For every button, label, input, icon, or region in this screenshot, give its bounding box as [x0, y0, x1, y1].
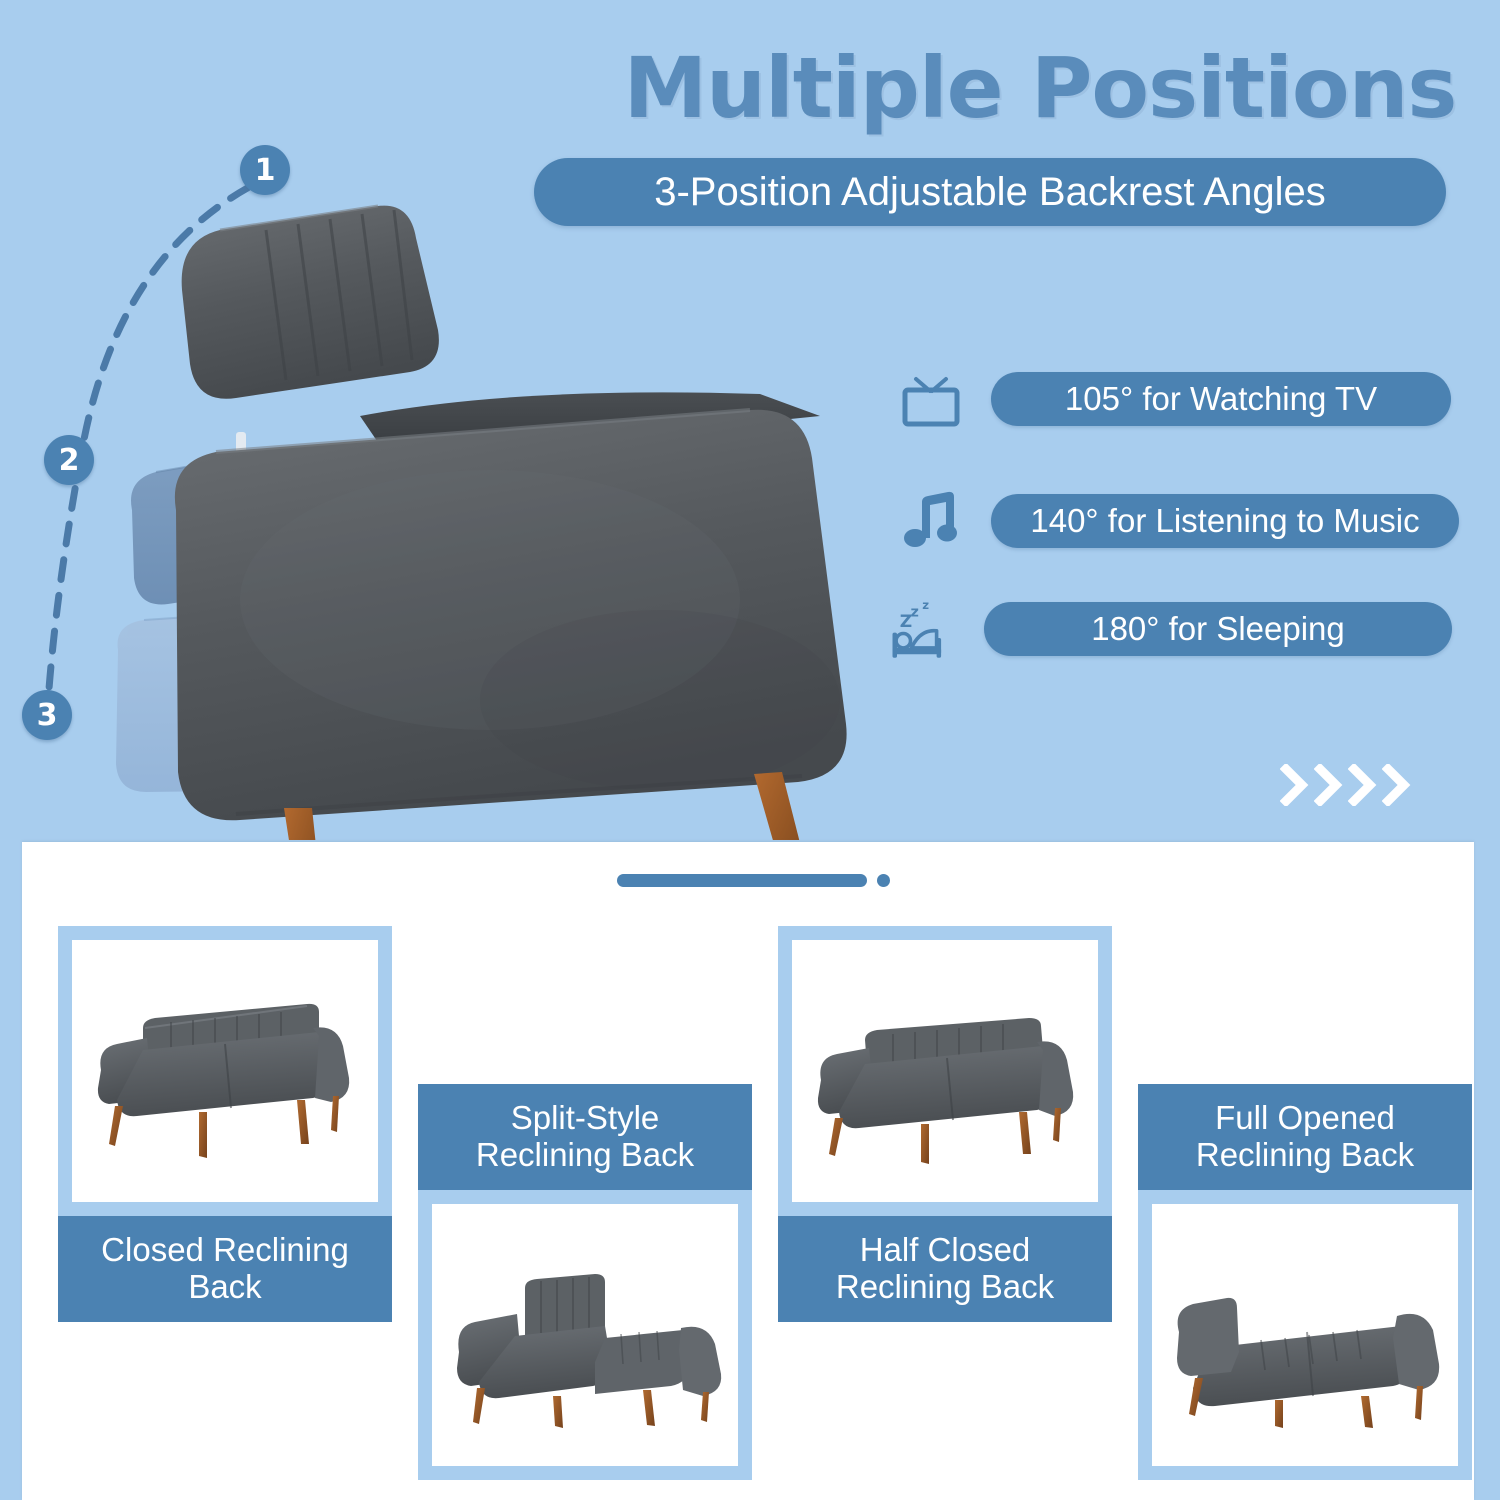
feature-label-sleeping: 180° for Sleeping [1091, 610, 1345, 648]
feature-label-listening-music: 140° for Listening to Music [1030, 502, 1419, 540]
position-marker-2[interactable]: 2 [44, 435, 94, 485]
subtitle-text: 3-Position Adjustable Backrest Angles [654, 170, 1326, 215]
section-divider [617, 874, 890, 887]
position-card-split[interactable]: Split-StyleReclining Back [418, 1084, 752, 1480]
chevron-right-icon [1382, 764, 1412, 806]
position-card-closed[interactable]: Closed Reclining Back [58, 926, 392, 1322]
position-markers-group: 1 2 3 [0, 120, 340, 680]
subtitle-banner: 3-Position Adjustable Backrest Angles [534, 158, 1446, 226]
sofa-closed-illustration [85, 976, 365, 1166]
feature-label-watching-tv: 105° for Watching TV [1065, 380, 1377, 418]
position-marker-1-label: 1 [255, 153, 276, 188]
position-card-half-closed-label: Half ClosedReclining Back [778, 1216, 1112, 1322]
svg-text:Z: Z [900, 612, 912, 632]
sofa-half-closed-illustration [805, 976, 1085, 1166]
feature-pill-sleeping: 180° for Sleeping [984, 602, 1452, 656]
page-title: Multiple Positions [600, 46, 1480, 130]
position-card-split-label: Split-StyleReclining Back [418, 1084, 752, 1190]
chevron-arrows-group [1280, 764, 1412, 806]
positions-gallery-panel: Closed Reclining Back Split-StyleReclini… [22, 842, 1474, 1500]
chevron-right-icon [1348, 764, 1378, 806]
position-card-half-closed-image [778, 926, 1112, 1216]
position-marker-2-label: 2 [59, 443, 80, 478]
divider-bar [617, 874, 867, 887]
position-card-full-opened-image [1138, 1190, 1472, 1480]
position-marker-1[interactable]: 1 [240, 145, 290, 195]
feature-row-watching-tv: 105° for Watching TV [895, 360, 1451, 438]
feature-row-sleeping: z z Z 180° for Sleeping [888, 590, 1452, 668]
divider-dot [877, 874, 890, 887]
position-marker-3[interactable]: 3 [22, 690, 72, 740]
position-card-closed-image [58, 926, 392, 1216]
position-card-full-opened[interactable]: Full OpenedReclining Back [1138, 1084, 1472, 1480]
position-card-split-image [418, 1190, 752, 1480]
feature-pill-watching-tv: 105° for Watching TV [991, 372, 1451, 426]
sleeping-bed-icon: z z Z [888, 590, 960, 668]
position-card-half-closed[interactable]: Half ClosedReclining Back [778, 926, 1112, 1322]
feature-row-listening-music: 140° for Listening to Music [895, 482, 1459, 560]
hero-section: 1 2 3 Multiple Positions 3-Position Adju… [0, 0, 1500, 842]
sofa-full-opened-illustration [1165, 1240, 1445, 1430]
sofa-split-illustration [445, 1240, 725, 1430]
position-marker-3-label: 3 [37, 698, 58, 733]
position-card-closed-label: Closed Reclining Back [58, 1216, 392, 1322]
chevron-right-icon [1280, 764, 1310, 806]
feature-pill-listening-music: 140° for Listening to Music [991, 494, 1459, 548]
tv-icon [895, 360, 967, 438]
music-note-icon [895, 482, 967, 560]
chevron-right-icon [1314, 764, 1344, 806]
position-card-full-opened-label: Full OpenedReclining Back [1138, 1084, 1472, 1190]
svg-text:z: z [922, 598, 929, 612]
